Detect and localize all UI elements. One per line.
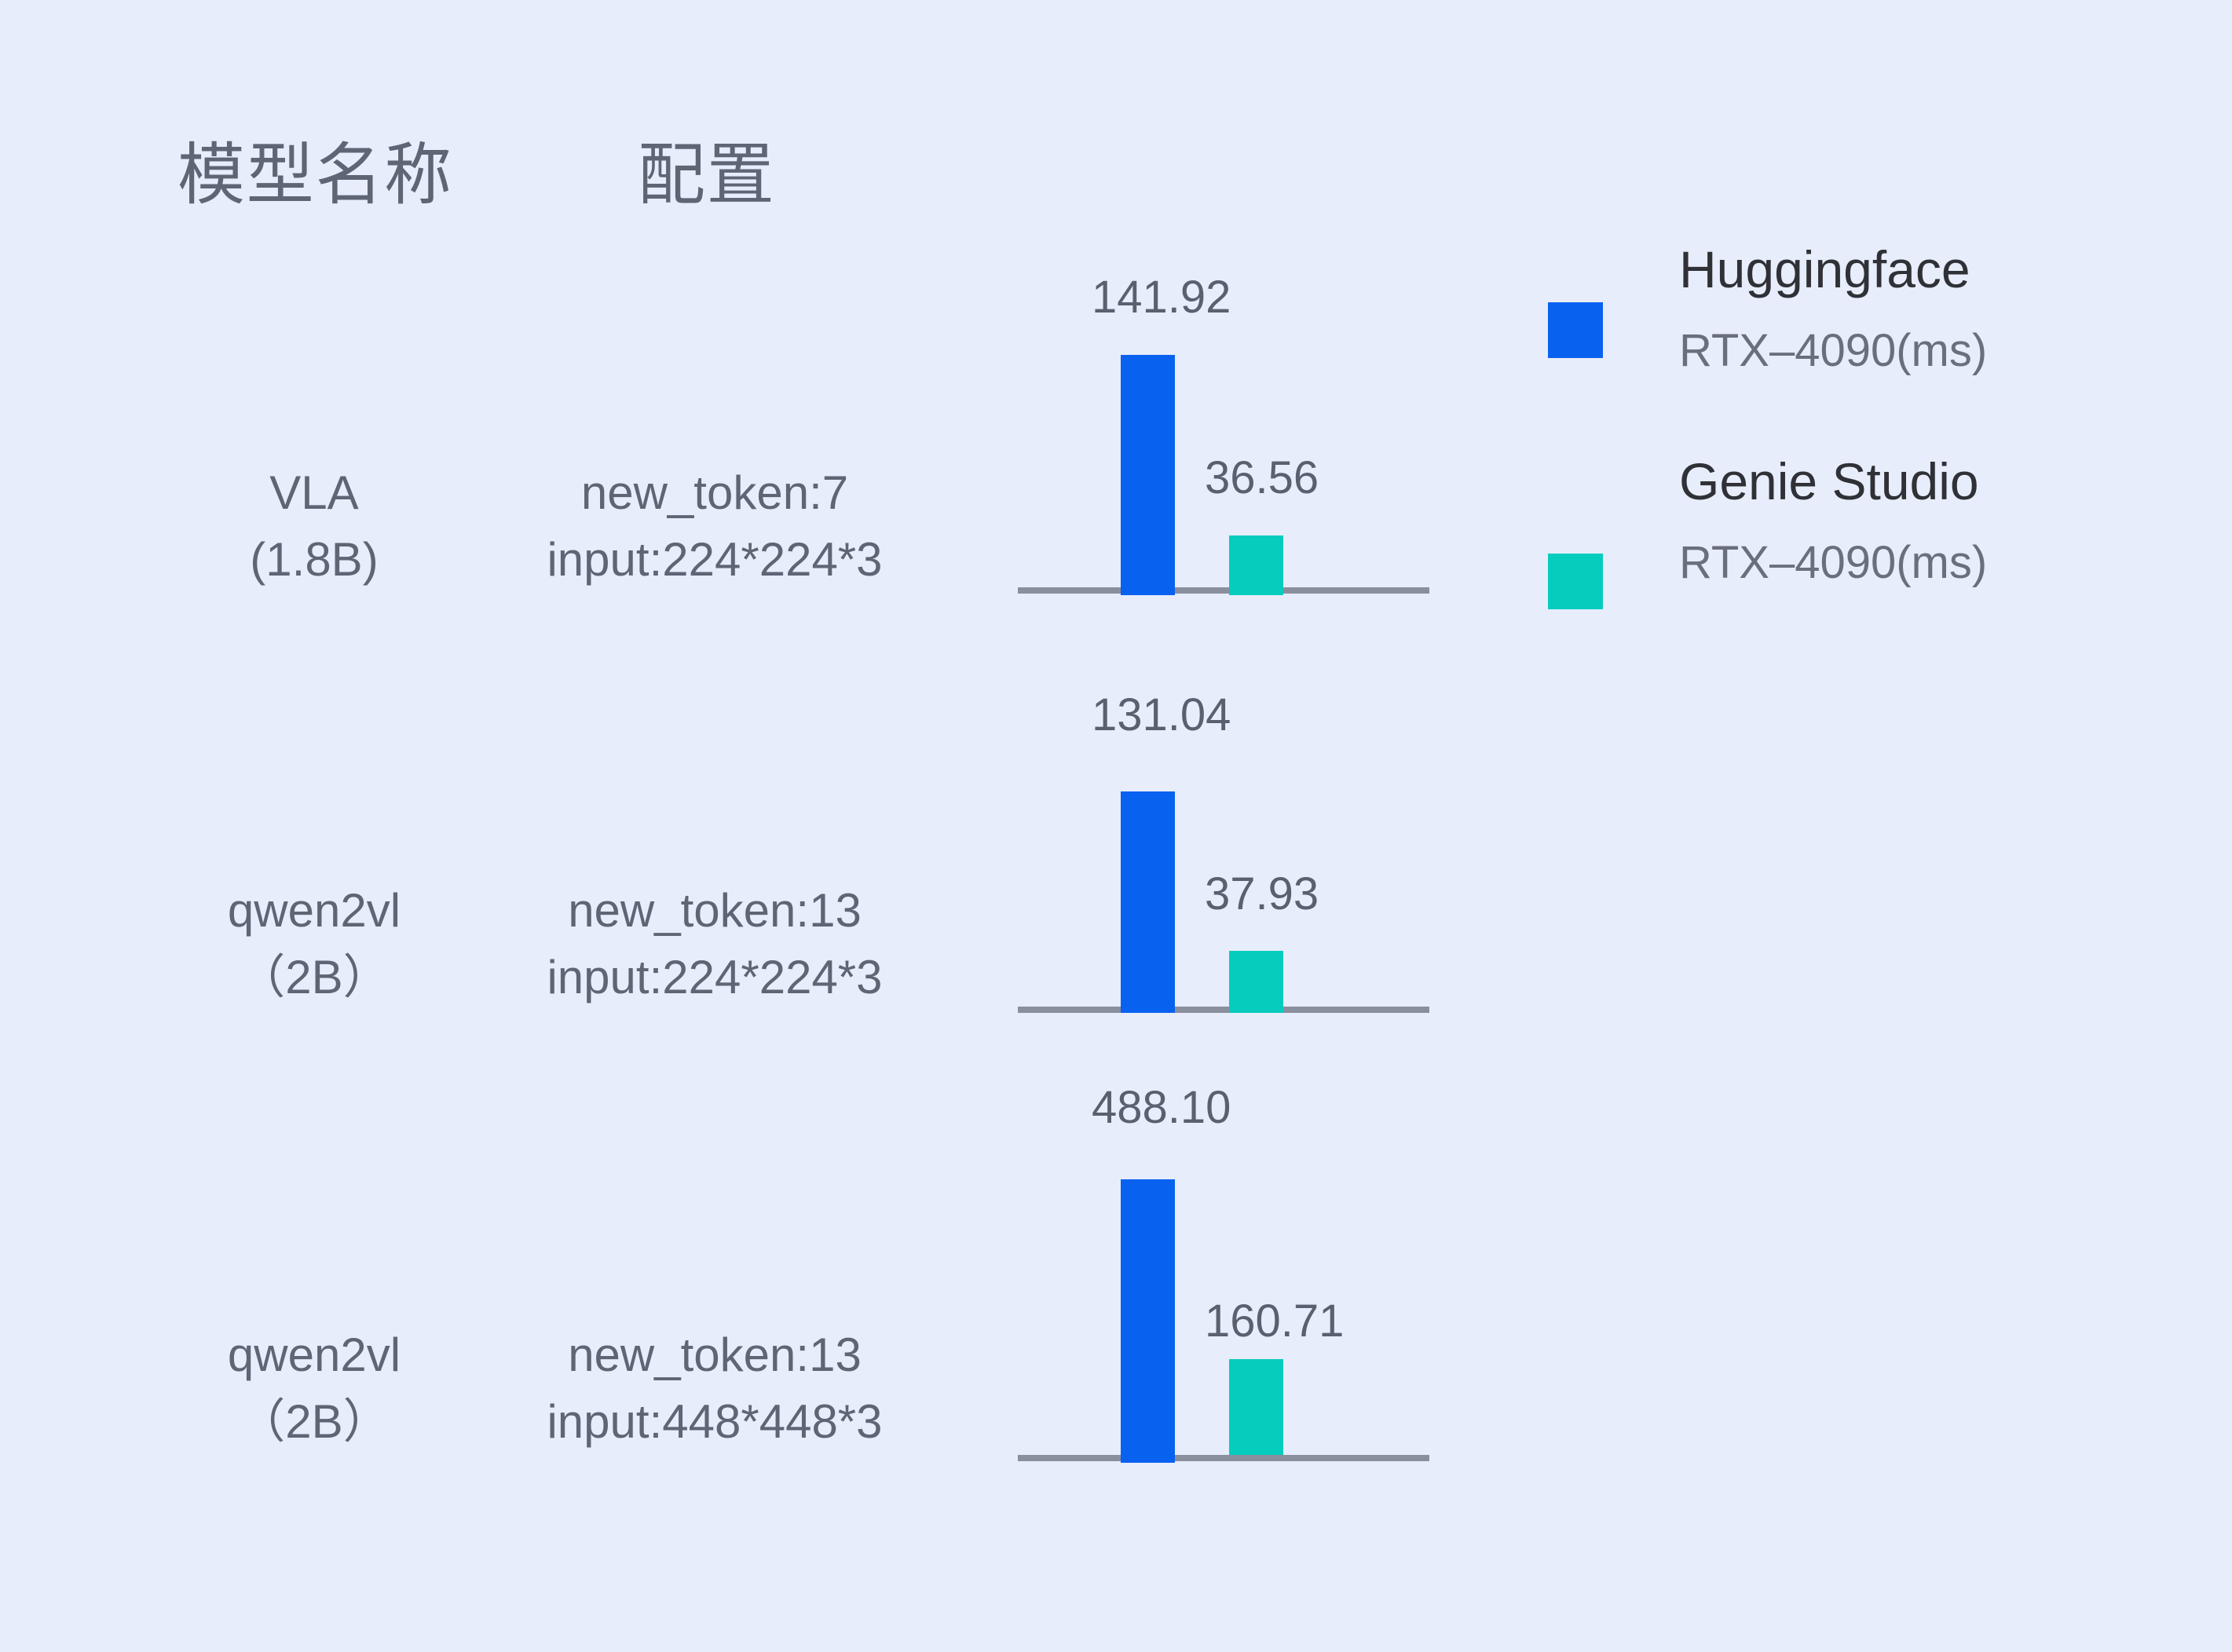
baseline-2 [1018, 1455, 1429, 1461]
row-config-2: new_token:13 input:448*448*3 [495, 1321, 935, 1455]
row-config-line2: input:448*448*3 [495, 1388, 935, 1455]
legend-swatch-genie-studio-icon [1548, 554, 1603, 609]
legend-label-genie-studio: Genie Studio [1679, 455, 1979, 507]
row-config-line2: input:224*224*3 [495, 526, 935, 593]
bar-huggingface-2[interactable] [1121, 1179, 1175, 1463]
baseline-1 [1018, 1007, 1429, 1013]
row-model-name-1: qwen2vl （2B） [141, 877, 487, 1011]
bar-genie-studio-2[interactable] [1229, 1359, 1283, 1455]
bar-huggingface-1[interactable] [1121, 791, 1175, 1013]
bar-value-genie-studio-1: 37.93 [1205, 872, 1319, 917]
plot-row-0: 141.92 36.56 [1018, 347, 1434, 595]
row-model-name-line1: VLA [141, 459, 487, 526]
row-model-name-line2: （2B） [141, 1388, 487, 1455]
row-config-line1: new_token:7 [495, 459, 935, 526]
row-config-line2: input:224*224*3 [495, 944, 935, 1011]
row-config-0: new_token:7 input:224*224*3 [495, 459, 935, 593]
bar-value-huggingface-2: 488.10 [1092, 1085, 1231, 1131]
legend-entry-huggingface[interactable]: Huggingface RTX–4090(ms) [1548, 236, 2098, 448]
row-model-name-line2: (1.8B) [141, 526, 487, 593]
row-model-name-line1: qwen2vl [141, 877, 487, 944]
legend-entry-genie-studio[interactable]: Genie Studio RTX–4090(ms) [1548, 448, 2098, 660]
chart-legend: Huggingface RTX–4090(ms) Genie Studio RT… [1548, 236, 2098, 660]
row-model-name-0: VLA (1.8B) [141, 459, 487, 593]
bar-value-huggingface-1: 131.04 [1092, 693, 1231, 738]
row-model-name-line1: qwen2vl [141, 1321, 487, 1388]
bar-huggingface-0[interactable] [1121, 355, 1175, 595]
legend-label-huggingface: Huggingface [1679, 243, 1970, 295]
bar-value-genie-studio-2: 160.71 [1205, 1299, 1344, 1344]
legend-sublabel-genie-studio: RTX–4090(ms) [1679, 540, 1987, 586]
row-config-1: new_token:13 input:224*224*3 [495, 877, 935, 1011]
column-header-model-name: 模型名称 [177, 141, 453, 209]
row-model-name-line2: （2B） [141, 944, 487, 1011]
bar-genie-studio-1[interactable] [1229, 951, 1283, 1013]
row-model-name-2: qwen2vl （2B） [141, 1321, 487, 1455]
row-config-line1: new_token:13 [495, 877, 935, 944]
plot-row-2: 488.10 160.71 [1018, 1179, 1434, 1463]
bar-genie-studio-0[interactable] [1229, 535, 1283, 595]
baseline-0 [1018, 587, 1429, 594]
row-config-line1: new_token:13 [495, 1321, 935, 1388]
bar-value-genie-studio-0: 36.56 [1205, 455, 1319, 501]
plot-row-1: 131.04 37.93 [1018, 785, 1434, 1013]
bar-value-huggingface-0: 141.92 [1092, 275, 1231, 320]
column-header-config: 配置 [638, 141, 775, 209]
legend-swatch-huggingface-icon [1548, 302, 1603, 358]
chart-canvas: 模型名称 配置 VLA (1.8B) new_token:7 input:224… [0, 0, 2232, 1652]
legend-sublabel-huggingface: RTX–4090(ms) [1679, 328, 1987, 374]
